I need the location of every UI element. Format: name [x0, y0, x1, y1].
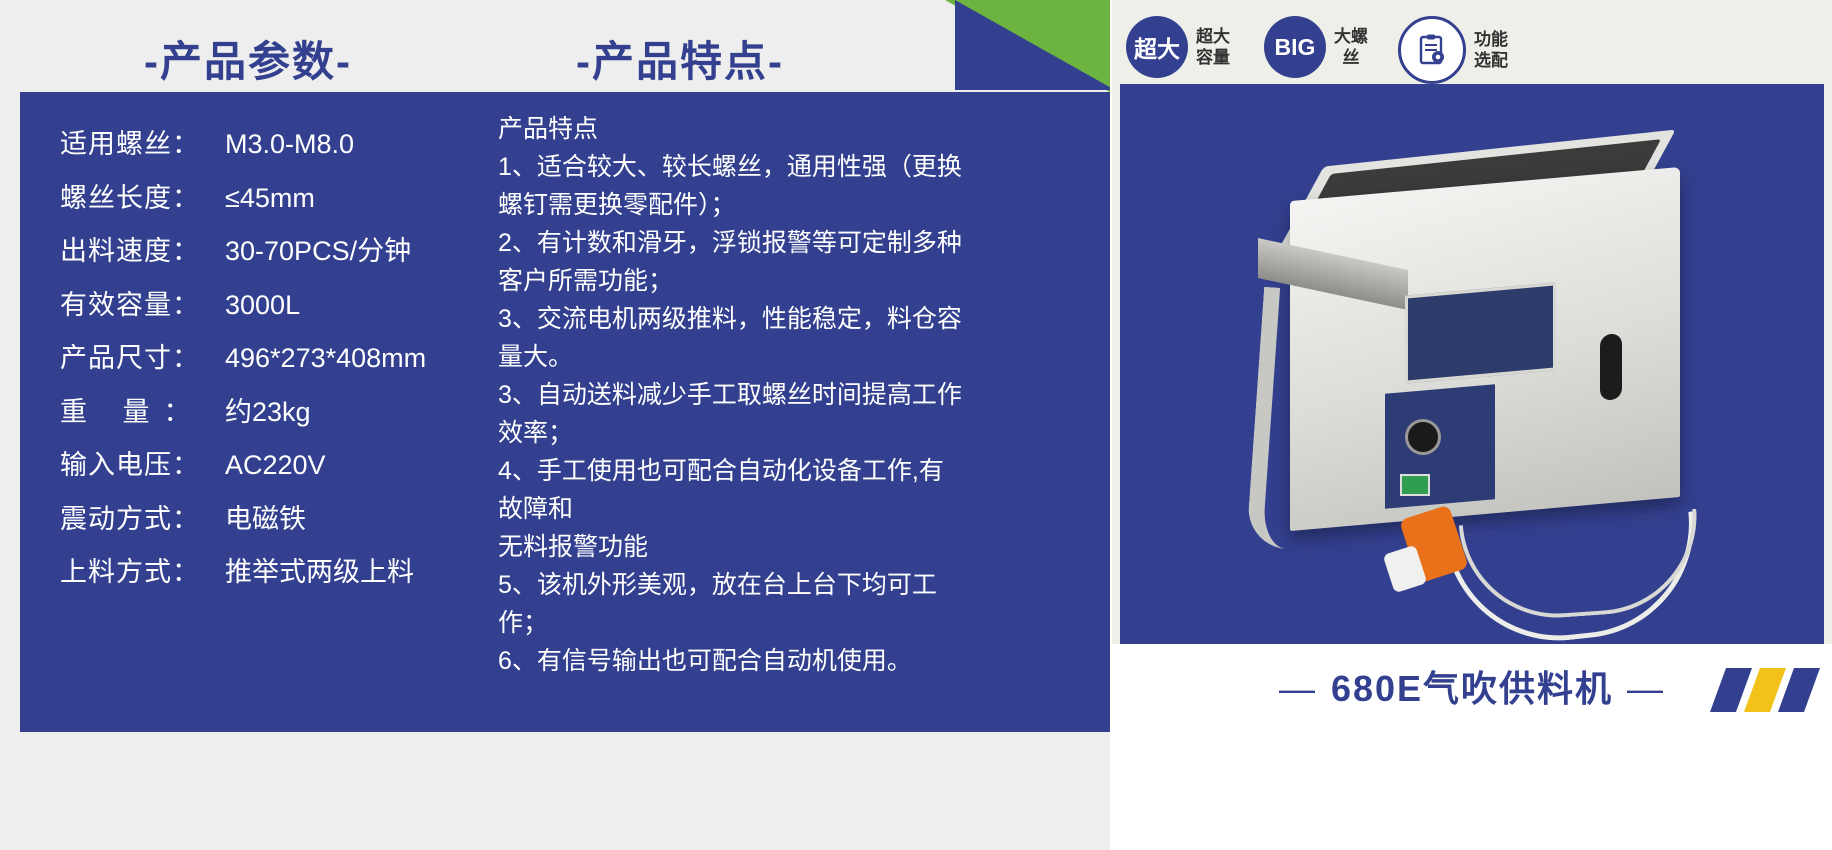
table-row: 上料方式： 推举式两级上料: [60, 550, 530, 584]
table-row: 输入电压： AC220V: [60, 443, 530, 477]
clipboard-gear-icon: [1398, 16, 1466, 84]
badge-large-capacity: 超大 超大容量: [1126, 16, 1231, 78]
table-row: 出料速度： 30-70PCS/分钟: [60, 229, 530, 263]
spec-label: 产品尺寸：: [60, 336, 225, 375]
badge-label: 大螺丝: [1333, 26, 1369, 68]
table-row: 产品尺寸： 496*273*408mm: [60, 336, 530, 370]
spec-value: ≤45mm: [225, 183, 315, 214]
features-list: 产品特点 1、适合较大、较长螺丝，通用性强（更换螺钉需更换零配件）； 2、有计数…: [498, 110, 968, 680]
table-row: 震动方式： 电磁铁: [60, 497, 530, 531]
badge-function-options: 功能选配: [1398, 16, 1509, 84]
spec-value: 30-70PCS/分钟: [225, 229, 411, 268]
table-row: 适用螺丝： M3.0-M8.0: [60, 122, 530, 156]
badge-circle: 超大: [1126, 16, 1188, 78]
badge-label: 功能选配: [1473, 29, 1509, 71]
feature-item: 2、有计数和滑牙，浮锁报警等可定制多种客户所需功能；: [498, 224, 968, 300]
spec-value: AC220V: [225, 450, 326, 481]
left-panel: -产品参数- -产品特点- 适用螺丝： M3.0-M8.0 螺丝长度： ≤45m…: [0, 0, 1110, 850]
page-title-parameters: -产品参数-: [38, 28, 458, 89]
dash-right: —: [1627, 668, 1665, 709]
badge-row: 超大 超大容量 BIG 大螺丝 功能选配: [1112, 8, 1832, 88]
spec-value: 电磁铁: [225, 497, 306, 536]
table-row: 有效容量： 3000L: [60, 283, 530, 317]
specs-list: 适用螺丝： M3.0-M8.0 螺丝长度： ≤45mm 出料速度： 30-70P…: [60, 122, 530, 604]
badge-big-screw: BIG 大螺丝: [1264, 16, 1369, 78]
right-panel: 超大 超大容量 BIG 大螺丝 功能选配: [1112, 0, 1832, 850]
machine-illustration: [1200, 139, 1710, 569]
product-spec-poster: -产品参数- -产品特点- 适用螺丝： M3.0-M8.0 螺丝长度： ≤45m…: [0, 0, 1832, 850]
screw-icon: BIG: [1264, 16, 1326, 78]
feature-item: 5、该机外形美观，放在台上台下均可工作；: [498, 566, 968, 642]
feature-item: 无料报警功能: [498, 528, 968, 566]
table-row: 重 量： 约23kg: [60, 390, 530, 424]
left-titles: -产品参数- -产品特点-: [0, 14, 1110, 90]
product-photo: [1120, 84, 1824, 644]
spec-label: 重 量：: [60, 390, 225, 429]
machine-knob: [1405, 419, 1441, 455]
machine-power-switch: [1400, 474, 1430, 496]
dash-left: —: [1279, 668, 1317, 709]
spec-label: 出料速度：: [60, 229, 225, 268]
model-name: 680E气吹供料机: [1331, 668, 1613, 709]
spec-value: M3.0-M8.0: [225, 129, 354, 160]
machine-display: [1405, 282, 1556, 383]
clipboard-gear-glyph: [1415, 33, 1449, 67]
feature-item: 3、交流电机两级推料，性能稳定，料仓容量大。: [498, 300, 968, 376]
spec-value: 496*273*408mm: [225, 343, 426, 374]
spec-value: 推举式两级上料: [225, 550, 414, 589]
machine-handle: [1600, 333, 1622, 401]
spec-value: 3000L: [225, 290, 300, 321]
spec-label: 上料方式：: [60, 550, 225, 589]
feature-item: 4、手工使用也可配合自动化设备工作,有故障和: [498, 452, 968, 528]
spec-label: 震动方式：: [60, 497, 225, 536]
spec-label: 有效容量：: [60, 283, 225, 322]
feature-item: 6、有信号输出也可配合自动机使用。: [498, 642, 968, 680]
spec-label: 螺丝长度：: [60, 176, 225, 215]
table-row: 螺丝长度： ≤45mm: [60, 176, 530, 210]
spec-label: 输入电压：: [60, 443, 225, 482]
badge-label: 超大容量: [1195, 26, 1231, 68]
spec-value: 约23kg: [225, 390, 311, 429]
spec-label: 适用螺丝：: [60, 122, 225, 161]
feature-item: 1、适合较大、较长螺丝，通用性强（更换螺钉需更换零配件）；: [498, 148, 968, 224]
page-title-features: -产品特点-: [470, 28, 890, 89]
left-blue-body: 适用螺丝： M3.0-M8.0 螺丝长度： ≤45mm 出料速度： 30-70P…: [20, 92, 1110, 642]
brand-flag-icon: [1718, 668, 1810, 712]
feature-item: 3、自动送料减少手工取螺丝时间提高工作效率；: [498, 376, 968, 452]
features-heading: 产品特点: [498, 110, 968, 148]
